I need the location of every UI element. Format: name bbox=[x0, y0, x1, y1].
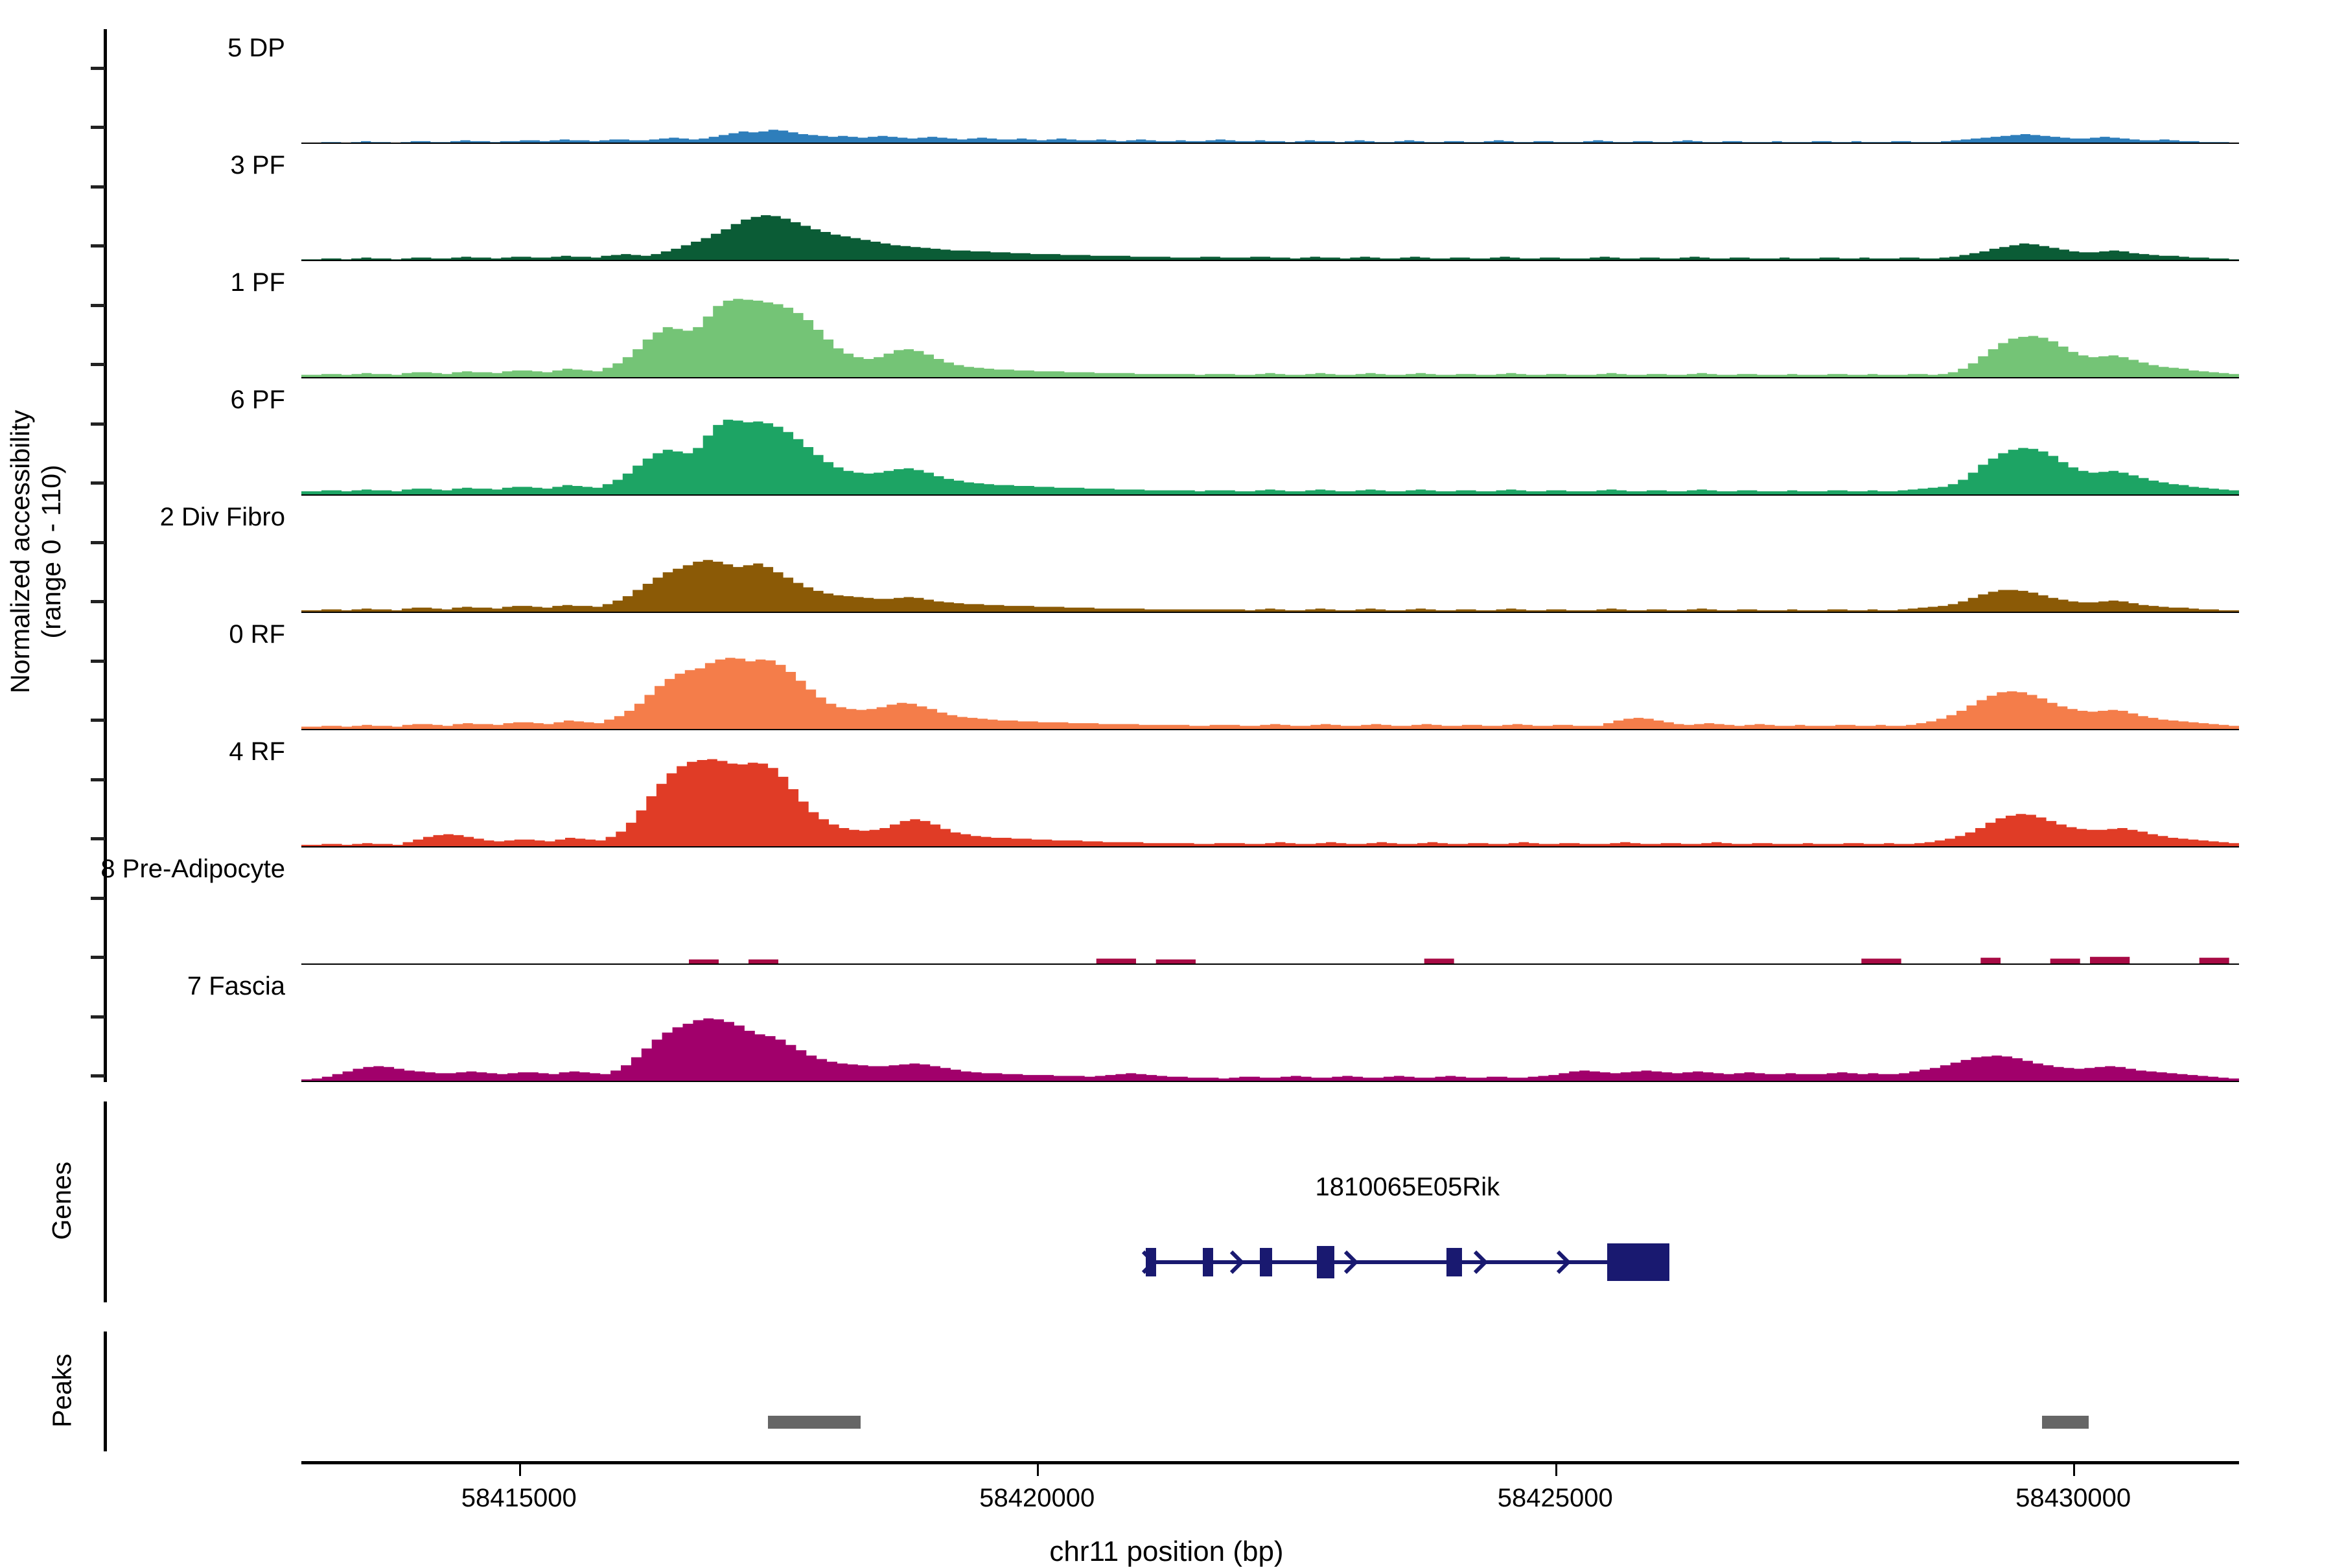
y-axis-label-line2: (range 0 - 110) bbox=[36, 25, 67, 1078]
coverage-track bbox=[301, 164, 2239, 261]
y-axis-label-line1: Normalized accessibility bbox=[5, 25, 36, 1078]
accessibility-axis-tick bbox=[91, 244, 105, 248]
peaks-panel-spine bbox=[104, 1332, 107, 1451]
coverage-track bbox=[301, 281, 2239, 378]
coverage-area bbox=[301, 398, 2239, 496]
coverage-track bbox=[301, 398, 2239, 496]
accessibility-axis-tick bbox=[91, 185, 105, 189]
accessibility-axis-tick bbox=[91, 600, 105, 603]
gene-exon bbox=[1607, 1243, 1669, 1281]
accessibility-axis-tick bbox=[91, 660, 105, 663]
track-baseline bbox=[301, 260, 2239, 262]
gene-exon bbox=[1446, 1248, 1462, 1276]
coverage-area bbox=[301, 47, 2239, 144]
x-axis-tick-label: 58425000 bbox=[1498, 1484, 1613, 1513]
coverage-track bbox=[301, 868, 2239, 965]
x-axis-tick-label: 58415000 bbox=[461, 1484, 577, 1513]
accessibility-axis-tick bbox=[91, 897, 105, 900]
coverage-area bbox=[301, 633, 2239, 730]
accessibility-axis-tick bbox=[91, 1015, 105, 1019]
genes-panel-spine bbox=[104, 1101, 107, 1302]
track-label-7-fascia: 7 Fascia bbox=[13, 972, 285, 1001]
x-axis-tick bbox=[1037, 1464, 1039, 1476]
gene-exon bbox=[1260, 1248, 1272, 1276]
coverage-track bbox=[301, 516, 2239, 613]
track-baseline bbox=[301, 729, 2239, 731]
gene-model-track: 1810065E05Rik bbox=[301, 1101, 2239, 1302]
x-axis-line bbox=[301, 1461, 2239, 1464]
track-label-0-rf: 0 RF bbox=[13, 620, 285, 649]
strand-arrow-icon bbox=[1343, 1249, 1365, 1275]
track-baseline bbox=[301, 1081, 2239, 1083]
track-label-4-rf: 4 RF bbox=[13, 737, 285, 767]
gene-name-label: 1810065E05Rik bbox=[1316, 1173, 1500, 1202]
x-axis-tick-label: 58420000 bbox=[979, 1484, 1095, 1513]
y-axis-label: Normalized accessibility (range 0 - 110) bbox=[5, 25, 67, 1078]
accessibility-axis-tick bbox=[91, 541, 105, 544]
track-label-6-pf: 6 PF bbox=[13, 386, 285, 415]
peak-region-bar bbox=[2042, 1416, 2089, 1429]
coverage-area bbox=[301, 750, 2239, 847]
coverage-track bbox=[301, 633, 2239, 730]
coverage-area bbox=[301, 516, 2239, 613]
accessibility-axis-tick bbox=[91, 422, 105, 426]
accessibility-axis-tick bbox=[91, 481, 105, 485]
coverage-area bbox=[301, 164, 2239, 261]
track-baseline bbox=[301, 963, 2239, 965]
x-axis-tick bbox=[519, 1464, 521, 1476]
accessibility-axis-tick bbox=[91, 363, 105, 366]
track-baseline bbox=[301, 143, 2239, 144]
coverage-track bbox=[301, 47, 2239, 144]
coverage-track bbox=[301, 985, 2239, 1082]
x-axis-title: chr11 position (bp) bbox=[0, 1536, 2333, 1568]
gene-exon bbox=[1203, 1248, 1213, 1276]
accessibility-axis-tick bbox=[91, 956, 105, 959]
x-axis-tick bbox=[1555, 1464, 1557, 1476]
coverage-area bbox=[301, 985, 2239, 1082]
accessibility-axis-tick bbox=[91, 719, 105, 722]
accessibility-axis-tick bbox=[91, 778, 105, 781]
peaks-track bbox=[301, 1332, 2239, 1451]
track-label-3-pf: 3 PF bbox=[13, 151, 285, 180]
coverage-area bbox=[301, 281, 2239, 378]
coverage-area bbox=[301, 868, 2239, 965]
coverage-track bbox=[301, 750, 2239, 847]
strand-arrow-icon bbox=[1555, 1249, 1577, 1275]
peaks-panel-label: Peaks bbox=[46, 1330, 77, 1450]
gene-exon bbox=[1317, 1246, 1334, 1278]
track-label-8-pre-adipocyte: 8 Pre-Adipocyte bbox=[13, 855, 285, 884]
accessibility-axis-tick bbox=[91, 126, 105, 129]
x-axis-tick-label: 58430000 bbox=[2015, 1484, 2131, 1513]
genes-panel-label: Genes bbox=[46, 1100, 77, 1301]
accessibility-axis-tick bbox=[91, 304, 105, 307]
track-baseline bbox=[301, 494, 2239, 496]
accessibility-axis-tick bbox=[91, 1074, 105, 1078]
accessibility-axis-tick bbox=[91, 67, 105, 70]
genome-browser-figure: Normalized accessibility (range 0 - 110)… bbox=[0, 0, 2333, 1555]
track-baseline bbox=[301, 846, 2239, 848]
track-baseline bbox=[301, 612, 2239, 614]
track-label-5-dp: 5 DP bbox=[13, 34, 285, 63]
strand-arrow-icon bbox=[1141, 1249, 1163, 1275]
track-baseline bbox=[301, 377, 2239, 379]
accessibility-axis-tick bbox=[91, 837, 105, 840]
strand-arrow-icon bbox=[1472, 1249, 1494, 1275]
peak-region-bar bbox=[768, 1416, 861, 1429]
gene-intron-line bbox=[1146, 1260, 1669, 1264]
track-label-1-pf: 1 PF bbox=[13, 268, 285, 297]
x-axis-tick bbox=[2073, 1464, 2075, 1476]
strand-arrow-icon bbox=[1229, 1249, 1251, 1275]
track-label-2-div-fibro: 2 Div Fibro bbox=[13, 503, 285, 532]
